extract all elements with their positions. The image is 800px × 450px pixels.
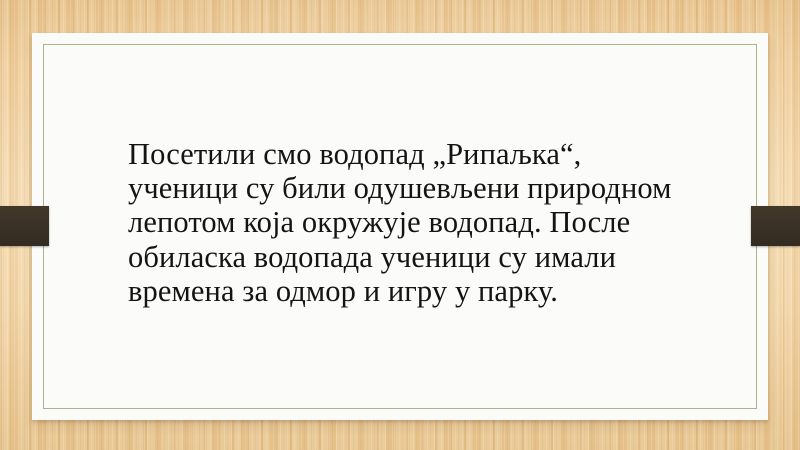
slide-body-text: Посетили смо водопад „Рипаљка“, ученици … (128, 137, 688, 308)
accent-bar-left (0, 206, 49, 246)
slide-canvas: Посетили смо водопад „Рипаљка“, ученици … (0, 0, 800, 450)
accent-bar-right (751, 206, 800, 246)
content-panel: Посетили смо водопад „Рипаљка“, ученици … (32, 33, 768, 420)
